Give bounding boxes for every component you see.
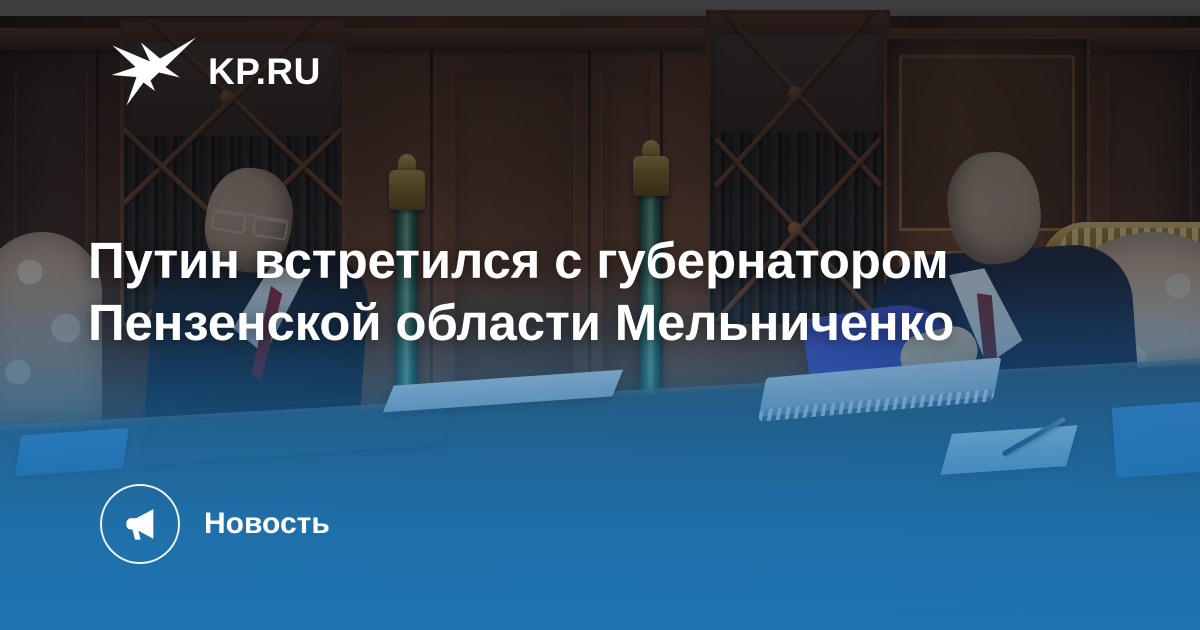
brand-logo[interactable]: KP.RU [110,36,321,106]
social-share-card: KP.RU Путин встретился с губернатором Пе… [0,0,1200,630]
card-foreground: KP.RU Путин встретился с губернатором Пе… [0,0,1200,630]
swallow-bird-icon [110,36,196,106]
brand-wordmark: KP.RU [208,53,321,90]
status-badge[interactable]: Новость [100,484,330,564]
page-title: Путин встретился с губернатором Пензенск… [88,230,1098,354]
badge-label: Новость [204,509,330,539]
badge-icon-circle [100,484,180,564]
megaphone-icon [121,505,159,543]
